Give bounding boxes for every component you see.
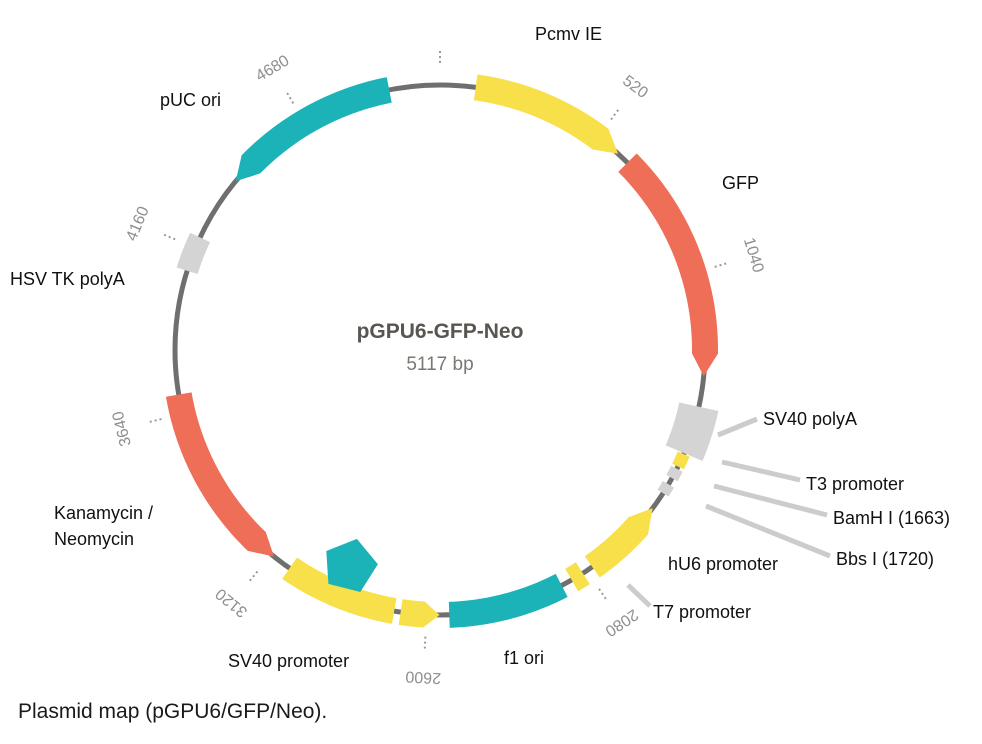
leader-sv40-polya — [718, 419, 757, 435]
plasmid-title: pGPU6-GFP-Neo — [357, 320, 524, 343]
feature-label-puc-ori: pUC ori — [160, 90, 221, 110]
figure-caption: Plasmid map (pGPU6/GFP/Neo). — [18, 700, 327, 724]
tick-label-4160: 4160 — [123, 204, 152, 243]
feature-label-sv40-polya: SV40 polyA — [763, 409, 857, 429]
feature-arc-t7-promoter[interactable] — [565, 562, 590, 591]
feature-label-sv40-promoter: SV40 promoter — [228, 651, 349, 671]
tick-mark-3640 — [150, 419, 162, 422]
feature-arc-puc-ori[interactable] — [236, 77, 392, 181]
leader-t7-promoter — [628, 585, 650, 606]
feature-label-t3-promoter: T3 promoter — [806, 474, 904, 494]
feature-labels: Pcmv IEGFPSV40 polyAT3 promoterBamH I (1… — [10, 24, 950, 671]
tick-label-520: 520 — [619, 72, 651, 102]
feature-arc-kanamycin-neomycin[interactable] — [166, 392, 274, 556]
tick-label-2600: 2600 — [405, 667, 442, 686]
tick-mark-2600 — [425, 637, 426, 649]
plasmid-map-figure: 5201040208026003120364041604680 Pcmv IEG… — [0, 0, 982, 744]
leader-lines — [628, 419, 830, 606]
feature-label-t7-promoter: T7 promoter — [653, 602, 751, 622]
feature-label-pcmv-ie: Pcmv IE — [535, 24, 602, 44]
feature-label-bbs-i-1720: Bbs I (1720) — [836, 549, 934, 569]
plasmid-size: 5117 bp — [406, 354, 473, 375]
marker-shapes — [326, 539, 378, 592]
tick-mark-4680 — [287, 93, 293, 103]
feature-label-gfp: GFP — [722, 173, 759, 193]
feature-arc-gfp[interactable] — [618, 154, 718, 377]
feature-label-bamh-i-1663: BamH I (1663) — [833, 508, 950, 528]
feature-label-kanamycin-neomycin: Kanamycin / — [54, 503, 153, 523]
feature-arc-pcmv-ie[interactable] — [474, 75, 618, 154]
plasmid-map-svg: 5201040208026003120364041604680 Pcmv IEG… — [0, 0, 982, 744]
feature-label-hsv-tk-polya: HSV TK polyA — [10, 269, 125, 289]
tick-label-3120: 3120 — [213, 585, 251, 621]
feature-arc-hu6-promoter[interactable] — [585, 508, 653, 577]
tick-label-1040: 1040 — [740, 236, 767, 275]
feature-label-f1-ori: f1 ori — [504, 648, 544, 668]
feature-label-kanamycin-neomycin: Neomycin — [54, 529, 134, 549]
tick-label-2080: 2080 — [602, 605, 641, 639]
feature-arc-sv40-small-arrow[interactable] — [399, 599, 440, 627]
feature-arc-sv40-polya[interactable] — [666, 402, 719, 461]
leader-t3-promoter — [722, 462, 800, 480]
feature-arcs — [166, 75, 718, 628]
tick-mark-1040 — [715, 263, 726, 266]
tick-label-4680: 4680 — [253, 52, 292, 85]
feature-marker-pentagon[interactable] — [326, 539, 378, 592]
tick-label-3640: 3640 — [110, 409, 135, 448]
feature-arc-f1-ori[interactable] — [449, 574, 568, 628]
tick-mark-4160 — [164, 235, 175, 240]
tick-mark-520 — [611, 110, 618, 120]
tick-mark-3120 — [250, 571, 258, 580]
tick-mark-2080 — [599, 589, 606, 599]
feature-label-hu6-promoter: hU6 promoter — [668, 554, 778, 574]
feature-arc-hsv-tk-polya[interactable] — [177, 233, 210, 274]
